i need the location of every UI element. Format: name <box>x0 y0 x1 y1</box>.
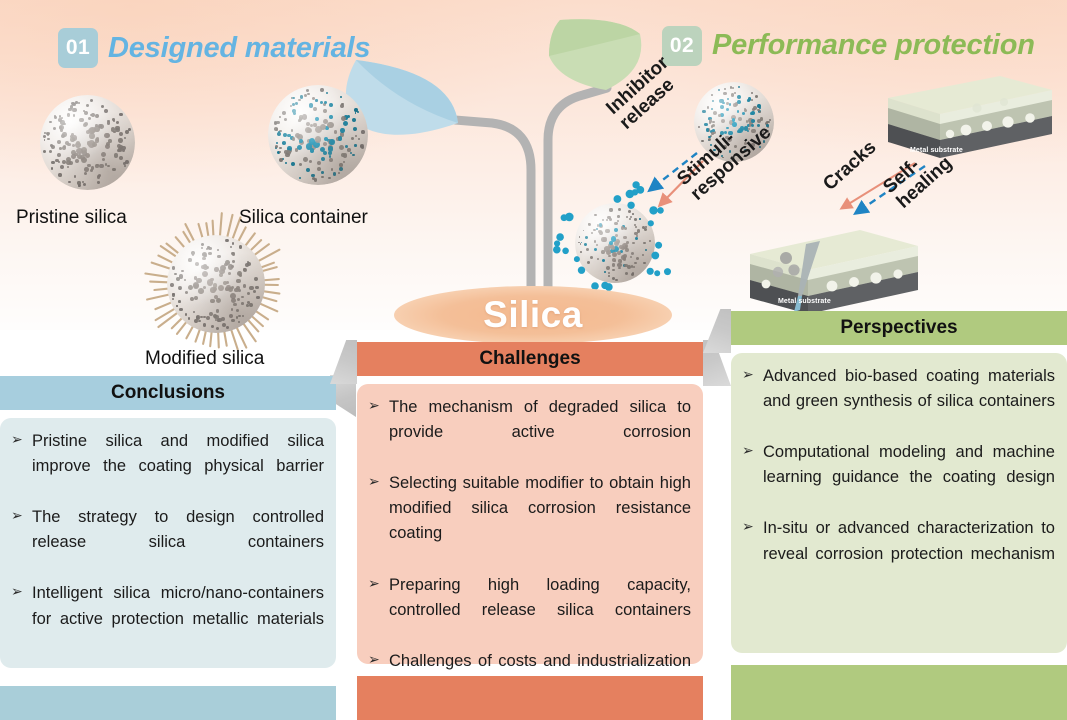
bullet-arrow-icon: ➢ <box>368 573 380 594</box>
challenges-bullet-3: ➢ Preparing high loading capacity, contr… <box>367 573 691 648</box>
bullet-arrow-icon: ➢ <box>11 581 23 602</box>
perspectives-bullet-1: ➢ Advanced bio-based coating materials a… <box>741 364 1055 439</box>
conclusions-title: Conclusions <box>111 382 225 404</box>
challenges-bullet-list: ➢ The mechanism of degraded silica to pr… <box>367 395 691 720</box>
bullet-text: Advanced bio-based coating materials and… <box>763 364 1055 439</box>
slab-label-cracked: Metal substrate <box>778 298 831 305</box>
perspectives-bullet-2: ➢ Computational modeling and machine lea… <box>741 440 1055 515</box>
conclusions-bullet-2: ➢ The strategy to design controlled rele… <box>10 505 324 580</box>
perspectives-bullet-3: ➢ In-situ or advanced characterization t… <box>741 516 1055 591</box>
conclusions-footer <box>0 686 336 720</box>
silica-center-label: Silica <box>483 294 583 336</box>
bullet-arrow-icon: ➢ <box>368 471 380 492</box>
challenges-bullet-2: ➢ Selecting suitable modifier to obtain … <box>367 471 691 571</box>
perspectives-title: Perspectives <box>840 317 957 339</box>
bullet-text: Preparing high loading capacity, control… <box>389 573 691 648</box>
bullet-arrow-icon: ➢ <box>368 395 380 416</box>
slab-label-intact: Metal substrate <box>910 147 963 154</box>
bullet-arrow-icon: ➢ <box>742 516 754 537</box>
challenges-title: Challenges <box>479 348 580 370</box>
perspectives-body: ➢ Advanced bio-based coating materials a… <box>731 353 1067 653</box>
perspectives-bullet-list: ➢ Advanced bio-based coating materials a… <box>741 364 1055 592</box>
challenges-header: Challenges <box>357 342 703 376</box>
bullet-arrow-icon: ➢ <box>11 505 23 526</box>
bullet-text: Computational modeling and machine learn… <box>763 440 1055 515</box>
bullet-text: Pristine silica and modified silica impr… <box>32 429 324 504</box>
bullet-arrow-icon: ➢ <box>742 364 754 385</box>
silica-center-ellipse: Silica <box>394 286 672 344</box>
perspectives-footer <box>731 665 1067 720</box>
bullet-text: The mechanism of degraded silica to prov… <box>389 395 691 470</box>
bullet-text: In-situ or advanced characterization to … <box>763 516 1055 591</box>
conclusions-body: ➢ Pristine silica and modified silica im… <box>0 418 336 668</box>
challenges-body: ➢ The mechanism of degraded silica to pr… <box>357 384 703 664</box>
figure-canvas: 01 Designed materials 02 Performance pro… <box>0 0 1067 720</box>
conclusions-header: Conclusions <box>0 376 336 410</box>
bullet-arrow-icon: ➢ <box>11 429 23 450</box>
bullet-text: The strategy to design controlled releas… <box>32 505 324 580</box>
conclusions-bullet-list: ➢ Pristine silica and modified silica im… <box>10 429 324 657</box>
challenges-bullet-1: ➢ The mechanism of degraded silica to pr… <box>367 395 691 470</box>
coating-slab-intact <box>880 68 1060 178</box>
bullet-arrow-icon: ➢ <box>368 649 380 670</box>
bullet-arrow-icon: ➢ <box>742 440 754 461</box>
conclusions-bullet-3: ➢ Intelligent silica micro/nano-containe… <box>10 581 324 656</box>
conclusions-bullet-1: ➢ Pristine silica and modified silica im… <box>10 429 324 504</box>
bullet-text: Selecting suitable modifier to obtain hi… <box>389 471 691 571</box>
challenges-footer <box>357 676 703 720</box>
bullet-text: Intelligent silica micro/nano-containers… <box>32 581 324 656</box>
perspectives-header: Perspectives <box>731 311 1067 345</box>
